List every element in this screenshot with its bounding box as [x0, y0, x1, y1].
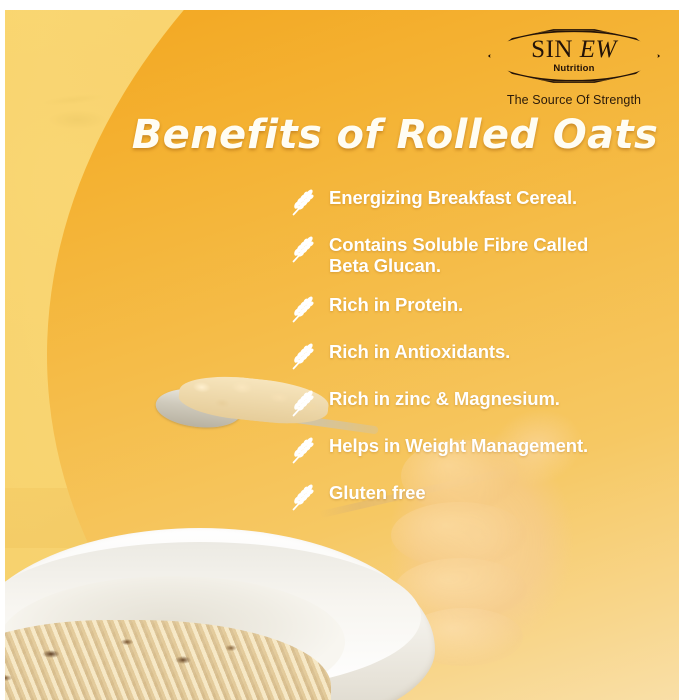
list-item-label: Gluten free: [329, 481, 426, 504]
list-item: Helps in Weight Management.: [289, 434, 675, 465]
list-item-label: Helps in Weight Management.: [329, 434, 588, 457]
wheat-icon: [289, 187, 319, 217]
logo-subtitle: Nutrition: [553, 64, 594, 74]
list-item: Rich in Protein.: [289, 293, 675, 324]
logo-name-part1: SIN: [531, 36, 573, 63]
brand-tagline: The Source Of Strength: [485, 93, 663, 107]
list-item-label: Rich in Antioxidants.: [329, 340, 510, 363]
list-item: Rich in Antioxidants.: [289, 340, 675, 371]
benefits-list: Energizing Breakfast Cereal.: [289, 186, 675, 528]
bowl-of-oats: [5, 508, 435, 700]
logo-ellipse-outline: SIN EW Nutrition: [488, 28, 660, 84]
list-item: Rich in zinc & Magnesium.: [289, 387, 675, 418]
wheat-icon: [289, 482, 319, 512]
brand-logo[interactable]: SIN EW Nutrition The Source Of Strength: [485, 28, 663, 107]
list-item-label: Energizing Breakfast Cereal.: [329, 186, 577, 209]
wheat-icon: [289, 341, 319, 371]
logo-wordmark: SIN EW: [531, 37, 617, 62]
wheat-icon: [289, 435, 319, 465]
logo-name-part2: EW: [580, 36, 617, 63]
wheat-icon: [289, 388, 319, 418]
page-title: Benefits of Rolled Oats: [5, 115, 679, 155]
wheat-icon: [289, 234, 319, 264]
list-item-label: Contains Soluble Fibre Called Beta Gluca…: [329, 233, 588, 277]
poster-inner-frame: SIN EW Nutrition The Source Of Strength …: [5, 10, 679, 700]
wheat-icon: [289, 294, 319, 324]
list-item-label: Rich in Protein.: [329, 293, 463, 316]
list-item-label: Rich in zinc & Magnesium.: [329, 387, 560, 410]
list-item: Contains Soluble Fibre Called Beta Gluca…: [289, 233, 675, 277]
list-item: Gluten free: [289, 481, 675, 512]
list-item: Energizing Breakfast Cereal.: [289, 186, 675, 217]
poster: SIN EW Nutrition The Source Of Strength …: [0, 0, 690, 700]
